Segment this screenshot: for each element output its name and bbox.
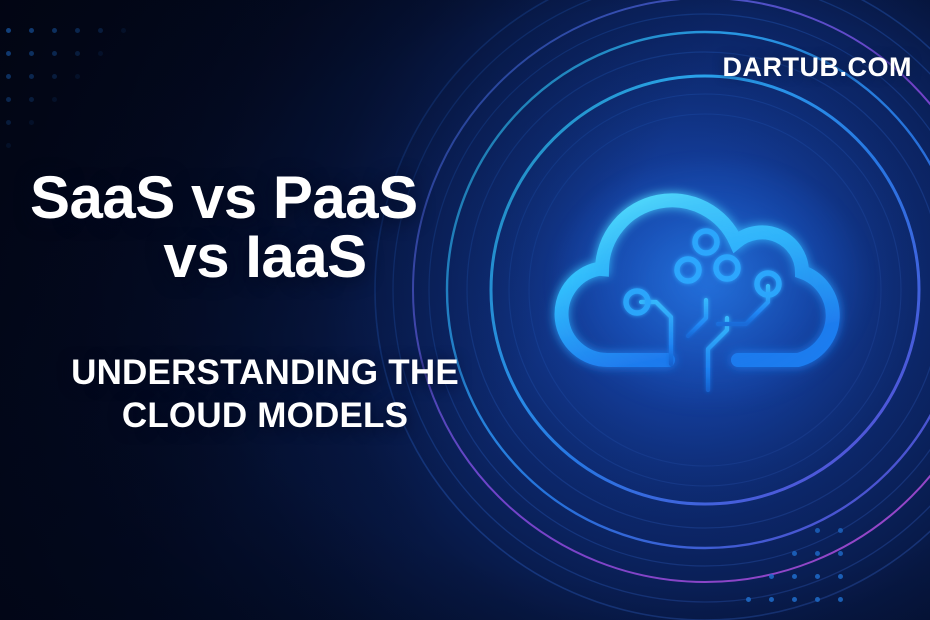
subtitle-line-2: CLOUD MODELS <box>122 396 408 435</box>
title-line-2: vs IaaS <box>30 227 500 286</box>
background-vignette <box>0 0 930 620</box>
page-subtitle: UNDERSTANDING THE CLOUD MODELS <box>24 352 506 437</box>
site-watermark: DARTUB.COM <box>723 52 912 83</box>
subtitle-line-1: UNDERSTANDING THE <box>71 353 459 392</box>
title-line-1: SaaS vs PaaS <box>30 168 500 227</box>
page-title: SaaS vs PaaS vs IaaS <box>30 168 500 287</box>
poster-canvas: DARTUB.COM SaaS vs PaaS vs IaaS UNDERSTA… <box>0 0 930 620</box>
